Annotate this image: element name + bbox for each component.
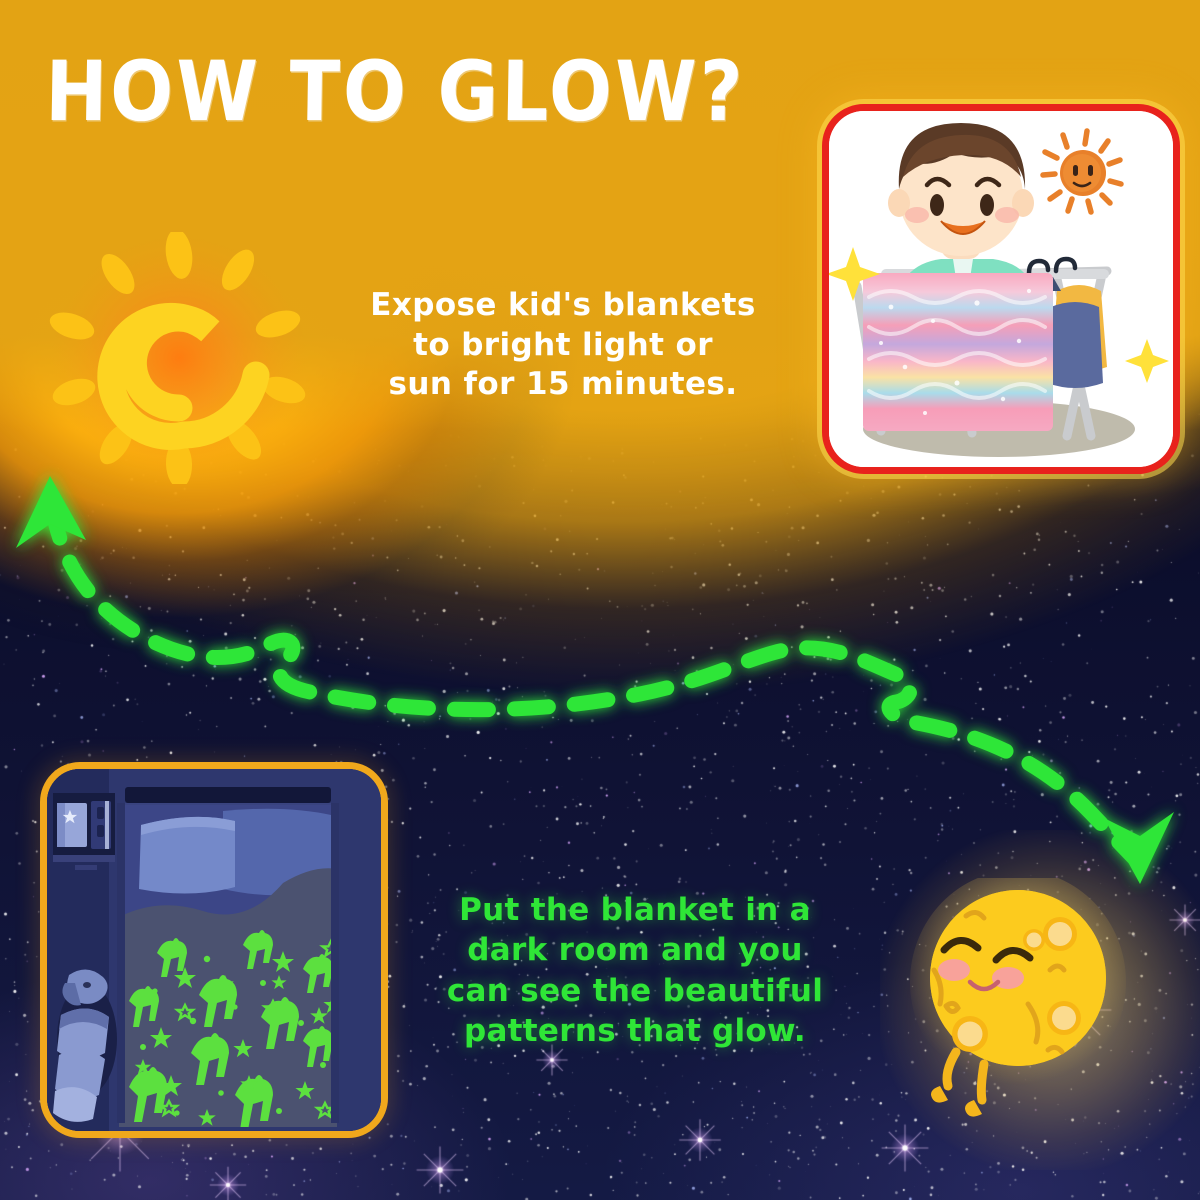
step-2-illustration-card [40, 762, 388, 1138]
step-1-line-1: Expose kid's blankets [318, 286, 808, 326]
step-1-illustration-card [822, 104, 1180, 474]
step-2-instruction-text: Put the blanket in a dark room and you c… [392, 890, 878, 1051]
step-1-line-3: sun for 15 minutes. [318, 365, 808, 405]
headboard [125, 787, 331, 803]
dark-bedroom-illustration [47, 769, 381, 1131]
step-2-line-4: patterns that glow. [392, 1011, 878, 1051]
infographic-canvas: HOW TO GLOW? [0, 0, 1200, 1200]
step-1-line-2: to bright light or [318, 326, 808, 366]
rainbow-blanket [863, 273, 1053, 431]
step-2-line-1: Put the blanket in a [392, 890, 878, 930]
step-2-line-3: can see the beautiful [392, 971, 878, 1011]
moon-character-icon [910, 878, 1126, 1128]
hanging-shirt-blue [1047, 302, 1103, 388]
boy-hanging-blanket-illustration [829, 111, 1173, 467]
spiral-sun-icon [48, 232, 310, 484]
step-2-line-2: dark room and you [392, 930, 878, 970]
step-1-instruction-text: Expose kid's blankets to bright light or… [318, 286, 808, 405]
book [57, 803, 87, 847]
page-title: HOW TO GLOW? [44, 44, 746, 140]
